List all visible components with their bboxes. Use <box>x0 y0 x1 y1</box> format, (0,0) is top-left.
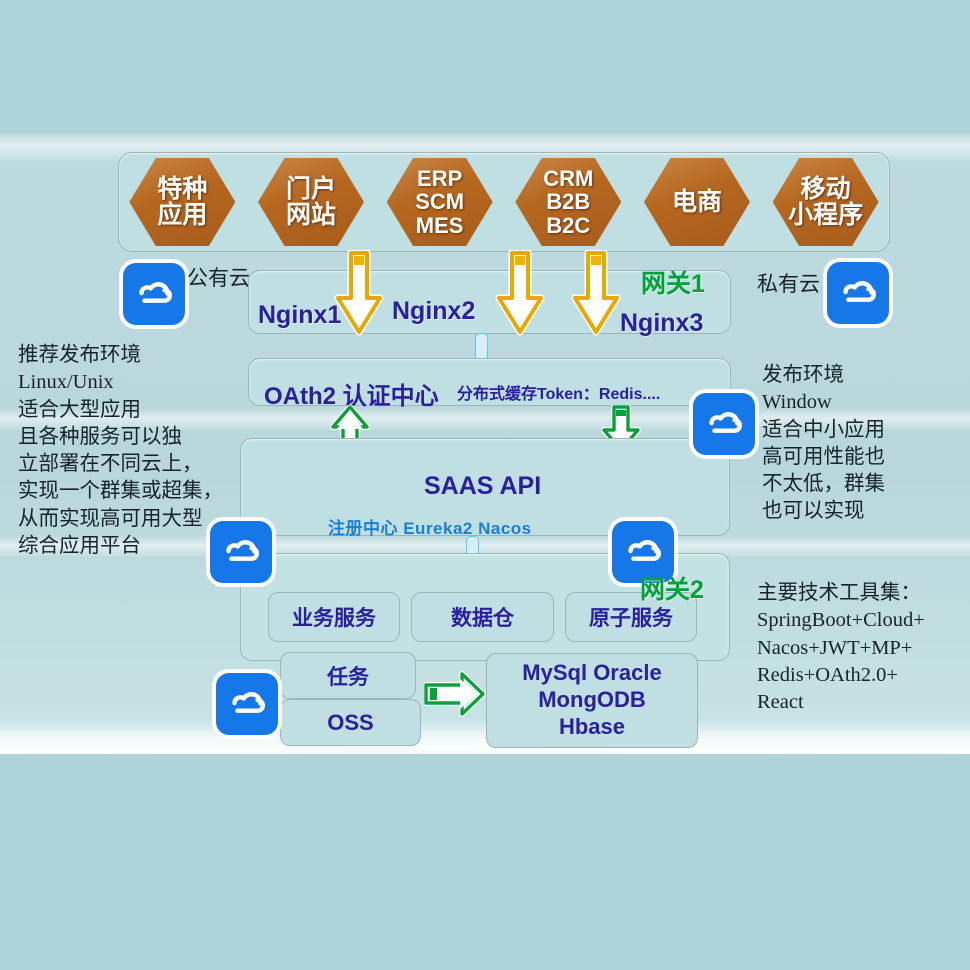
task-box[interactable]: 任务 <box>280 652 416 699</box>
db-line: MySql Oracle <box>522 660 661 687</box>
app-hex-erp-scm-mes[interactable]: ERP SCM MES <box>387 158 493 246</box>
hex-line: 门户 <box>286 176 336 203</box>
public-cloud-label: 公有云 <box>187 262 250 292</box>
hex-line: ERP <box>417 167 462 190</box>
arrow-down-yellow-icon <box>494 250 546 336</box>
hex-line: CRM <box>543 167 593 190</box>
db-line: Hbase <box>559 714 625 741</box>
arrow-down-yellow-icon <box>333 250 385 336</box>
cloud-icon-public[interactable] <box>123 263 185 325</box>
hex-line: 电商 <box>672 189 722 216</box>
token-cache-note: 分布式缓存Token：Redis.... <box>457 380 660 404</box>
private-cloud-label: 私有云 <box>757 268 820 298</box>
hex-line: 网站 <box>286 202 336 229</box>
application-hexagon-row: 特种 应用 门户 网站 ERP SCM MES CRM B2B B2C 电商 移… <box>118 152 890 252</box>
service-box-business[interactable]: 业务服务 <box>268 592 400 642</box>
cloud-icon-private[interactable] <box>827 262 889 324</box>
diagram-canvas: 特种 应用 门户 网站 ERP SCM MES CRM B2B B2C 电商 移… <box>0 0 970 970</box>
hex-line: 移动 <box>801 176 851 203</box>
cloud-icon-data[interactable] <box>216 673 278 735</box>
nginx1-label[interactable]: Nginx1 <box>258 301 341 330</box>
hex-line: 应用 <box>157 202 207 229</box>
app-hex-crm-b2b-b2c[interactable]: CRM B2B B2C <box>515 158 621 246</box>
hex-line: MES <box>416 214 464 237</box>
right-deployment-note: 发布环境 Window 适合中小应用 高可用性能也 不太低，群集 也可以实现 <box>762 362 962 526</box>
left-deployment-note: 推荐发布环境 Linux/Unix 适合大型应用 且各种服务可以独 立部署在不同… <box>18 342 233 560</box>
oss-box[interactable]: OSS <box>280 699 421 746</box>
saas-api-title: SAAS API <box>424 472 541 501</box>
registry-center-label: 注册中心 Eureka2 Nacos <box>328 514 532 539</box>
arrow-right-green-icon <box>424 671 486 717</box>
app-hex-ecommerce[interactable]: 电商 <box>644 158 750 246</box>
db-line: MongODB <box>538 687 646 714</box>
gateway2-label: 网关2 <box>640 570 704 606</box>
hex-line: B2C <box>546 214 590 237</box>
hex-line: SCM <box>415 190 464 213</box>
app-hex-special-app[interactable]: 特种 应用 <box>129 158 235 246</box>
tech-stack-note: 主要技术工具集： SpringBoot+Cloud+ Nacos+JWT+MP+… <box>757 580 969 716</box>
gateway1-label: 网关1 <box>641 264 705 300</box>
cloud-icon-auth[interactable] <box>693 393 755 455</box>
nginx3-label[interactable]: Nginx3 <box>620 309 703 338</box>
service-box-data-warehouse[interactable]: 数据仓 <box>411 592 554 642</box>
hex-line: 特种 <box>157 176 207 203</box>
connector-tick <box>475 333 488 361</box>
app-hex-mobile-miniapp[interactable]: 移动 小程序 <box>773 158 879 246</box>
app-hex-portal-site[interactable]: 门户 网站 <box>258 158 364 246</box>
hex-line: B2B <box>546 190 590 213</box>
hex-line: 小程序 <box>788 202 863 229</box>
nginx2-label[interactable]: Nginx2 <box>392 297 475 326</box>
database-box[interactable]: MySql Oracle MongODB Hbase <box>486 653 698 748</box>
arrow-down-yellow-icon <box>570 250 622 336</box>
